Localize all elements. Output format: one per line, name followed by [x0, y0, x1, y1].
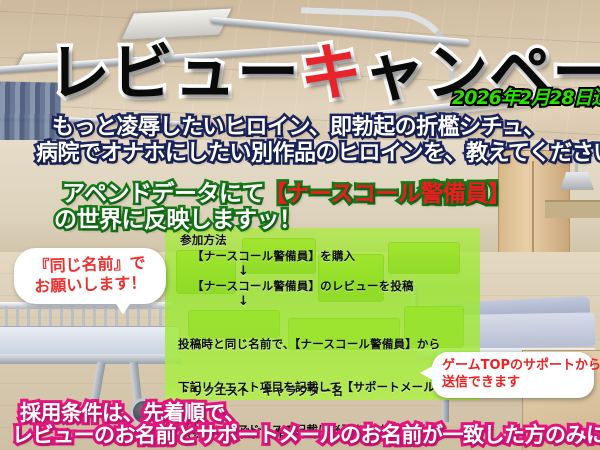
- step-1-text: 【ナースコール警備員】を購入: [192, 249, 355, 263]
- footer-line-2: レビューのお名前とサポートメールのお名前が一致した方のみになります: [12, 424, 600, 448]
- headline-blue-line-1: もっと凌辱したいヒロイン、即勃起の折檻シチュ、: [52, 116, 545, 141]
- deadline-badge: 2026年2月28日迄: [452, 88, 600, 109]
- footer-line-1: 採用条件は、先着順で、: [20, 402, 245, 426]
- request-line-1: ・リクエスト キャラクター名: [180, 384, 390, 398]
- speech-bubble-support: ゲームTOPのサポートから 送信できます: [432, 352, 594, 398]
- headline-blue-line-2: 病院でオナホにしたい別作品のヒロインを、教えてください！！: [36, 142, 600, 167]
- headline-green-line-2: の世界に反映しますッ！: [54, 208, 302, 234]
- review-campaign-banner: レビューキャンペーン 2026年2月28日迄 もっと凌辱したいヒロイン、即勃起の…: [0, 0, 600, 450]
- speech-bubble-left-text: 『同じ名前』で お願いします！: [13, 252, 166, 298]
- headline-green-line-1: アペンドデータにて【ナースコール警備員】: [62, 182, 510, 208]
- title-highlight-char: キ: [300, 36, 363, 109]
- speech-bubble-right-text: ゲームTOPのサポートから 送信できます: [442, 358, 600, 392]
- how-to-title: 参加方法: [180, 233, 227, 247]
- speech-bubble-same-name: 『同じ名前』で お願いします！: [14, 248, 166, 304]
- send-line-1: 投稿時と同じ名前で、【ナースコール警備員】から: [178, 337, 482, 351]
- title-part-1: レビュー: [48, 36, 300, 109]
- append-data-prefix: アペンドデータにて: [62, 181, 264, 207]
- arrow-down-icon: ↓: [238, 264, 249, 280]
- wall-trim: [545, 200, 600, 218]
- hospital-bed-left: [0, 292, 192, 412]
- step-2-text: 【ナースコール警備員】のレビューを投稿: [192, 279, 414, 293]
- game-title-highlight: 【ナースコール警備員】: [264, 181, 510, 207]
